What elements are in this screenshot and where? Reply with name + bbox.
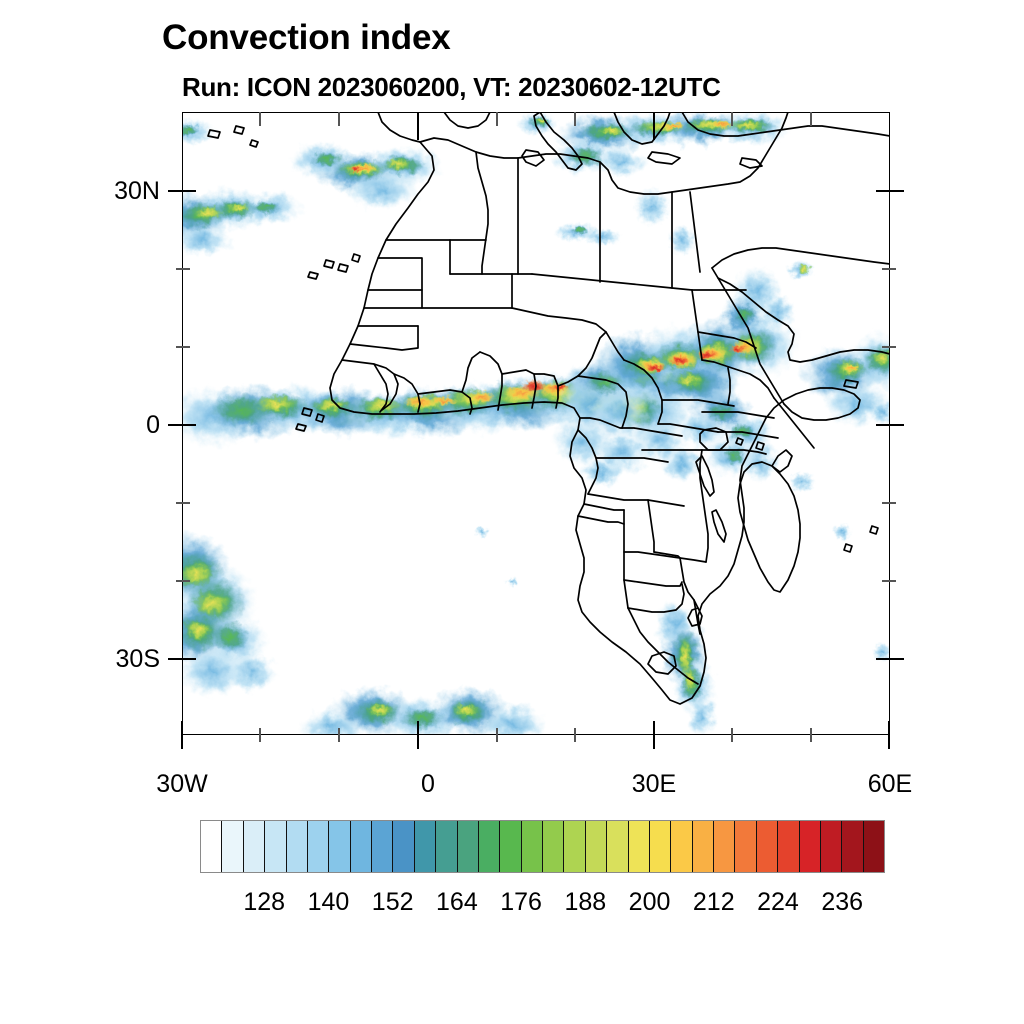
xtick-minor-top-40e: [731, 112, 733, 126]
colorbar-cell-23: [693, 821, 714, 872]
colorbar-cell-14: [500, 821, 521, 872]
xtick-minor-top-10w: [338, 112, 340, 126]
colorbar-cell-21: [650, 821, 671, 872]
xtick-minor-40e: [731, 728, 733, 742]
xtick-major-60e: [888, 721, 890, 749]
ytick-label-0: 0: [40, 411, 160, 440]
xtick-minor-top-10e: [496, 112, 498, 126]
colorbar-cell-31: [864, 821, 884, 872]
xtick-label-30w: 30W: [112, 770, 252, 799]
ytick-minor-right-20s: [882, 580, 896, 582]
ytick-minor-right-10n: [882, 346, 896, 348]
colorbar-cell-20: [629, 821, 650, 872]
ytick-minor-10n: [176, 346, 190, 348]
xtick-minor-10w: [338, 728, 340, 742]
xtick-minor-top-20w: [259, 112, 261, 126]
colorbar-cell-10: [415, 821, 436, 872]
colorbar-cell-12: [458, 821, 479, 872]
xtick-major-30e: [653, 721, 655, 749]
xtick-minor-top-50e: [810, 112, 812, 126]
map-svg: [182, 112, 890, 735]
xtick-minor-20e: [574, 728, 576, 742]
xtick-major-top-30e: [653, 112, 655, 140]
colorbar-cell-2: [244, 821, 265, 872]
colorbar-cell-29: [821, 821, 842, 872]
colorbar-cell-30: [842, 821, 863, 872]
colorbar-cell-11: [436, 821, 457, 872]
colorbar-cell-24: [714, 821, 735, 872]
xtick-minor-top-20e: [574, 112, 576, 126]
colorbar-cell-6: [329, 821, 350, 872]
convection-index-figure: Convection index Run: ICON 2023060200, V…: [0, 0, 1024, 1024]
ytick-minor-20n: [176, 268, 190, 270]
colorbar-cell-7: [351, 821, 372, 872]
colorbar-cell-15: [522, 821, 543, 872]
colorbar-cell-16: [543, 821, 564, 872]
run-valid-time-subtitle: Run: ICON 2023060200, VT: 20230602-12UTC: [182, 72, 721, 103]
colorbar-cell-13: [479, 821, 500, 872]
ytick-label-30n: 30N: [40, 177, 160, 206]
colorbar-cell-9: [393, 821, 414, 872]
xtick-major-0: [417, 721, 419, 749]
colorbar-tick-236: 236: [797, 888, 887, 917]
colorbar-cell-22: [671, 821, 692, 872]
ytick-label-30s: 30S: [40, 645, 160, 674]
ytick-minor-20s: [176, 580, 190, 582]
xtick-label-30e: 30E: [584, 770, 724, 799]
xtick-label-0: 0: [358, 770, 498, 799]
colorbar-cell-25: [735, 821, 756, 872]
colorbar-cell-4: [287, 821, 308, 872]
map-plot-area[interactable]: [182, 112, 890, 735]
colorbar-cell-26: [757, 821, 778, 872]
colorbar-cell-8: [372, 821, 393, 872]
xtick-minor-50e: [810, 728, 812, 742]
xtick-major-top-0: [417, 112, 419, 140]
ytick-major-right-30n: [876, 190, 904, 192]
ytick-major-30n: [168, 190, 196, 192]
colorbar[interactable]: [200, 820, 885, 873]
page-title: Convection index: [162, 18, 451, 58]
colorbar-cell-17: [564, 821, 585, 872]
colorbar-cell-28: [800, 821, 821, 872]
ytick-major-right-30s: [876, 658, 904, 660]
colorbar-cell-1: [222, 821, 243, 872]
colorbar-cell-19: [607, 821, 628, 872]
ytick-minor-10s: [176, 502, 190, 504]
xtick-major-30w: [181, 721, 183, 749]
ytick-minor-right-20n: [882, 268, 896, 270]
ytick-minor-right-10s: [882, 502, 896, 504]
colorbar-cell-3: [265, 821, 286, 872]
colorbar-cell-18: [586, 821, 607, 872]
xtick-minor-20w: [259, 728, 261, 742]
ytick-major-right-0: [876, 424, 904, 426]
xtick-label-60e: 60E: [820, 770, 960, 799]
xtick-minor-10e: [496, 728, 498, 742]
ytick-major-30s: [168, 658, 196, 660]
colorbar-cell-5: [308, 821, 329, 872]
colorbar-cell-0: [201, 821, 222, 872]
ytick-major-0: [168, 424, 196, 426]
colorbar-cell-27: [778, 821, 799, 872]
